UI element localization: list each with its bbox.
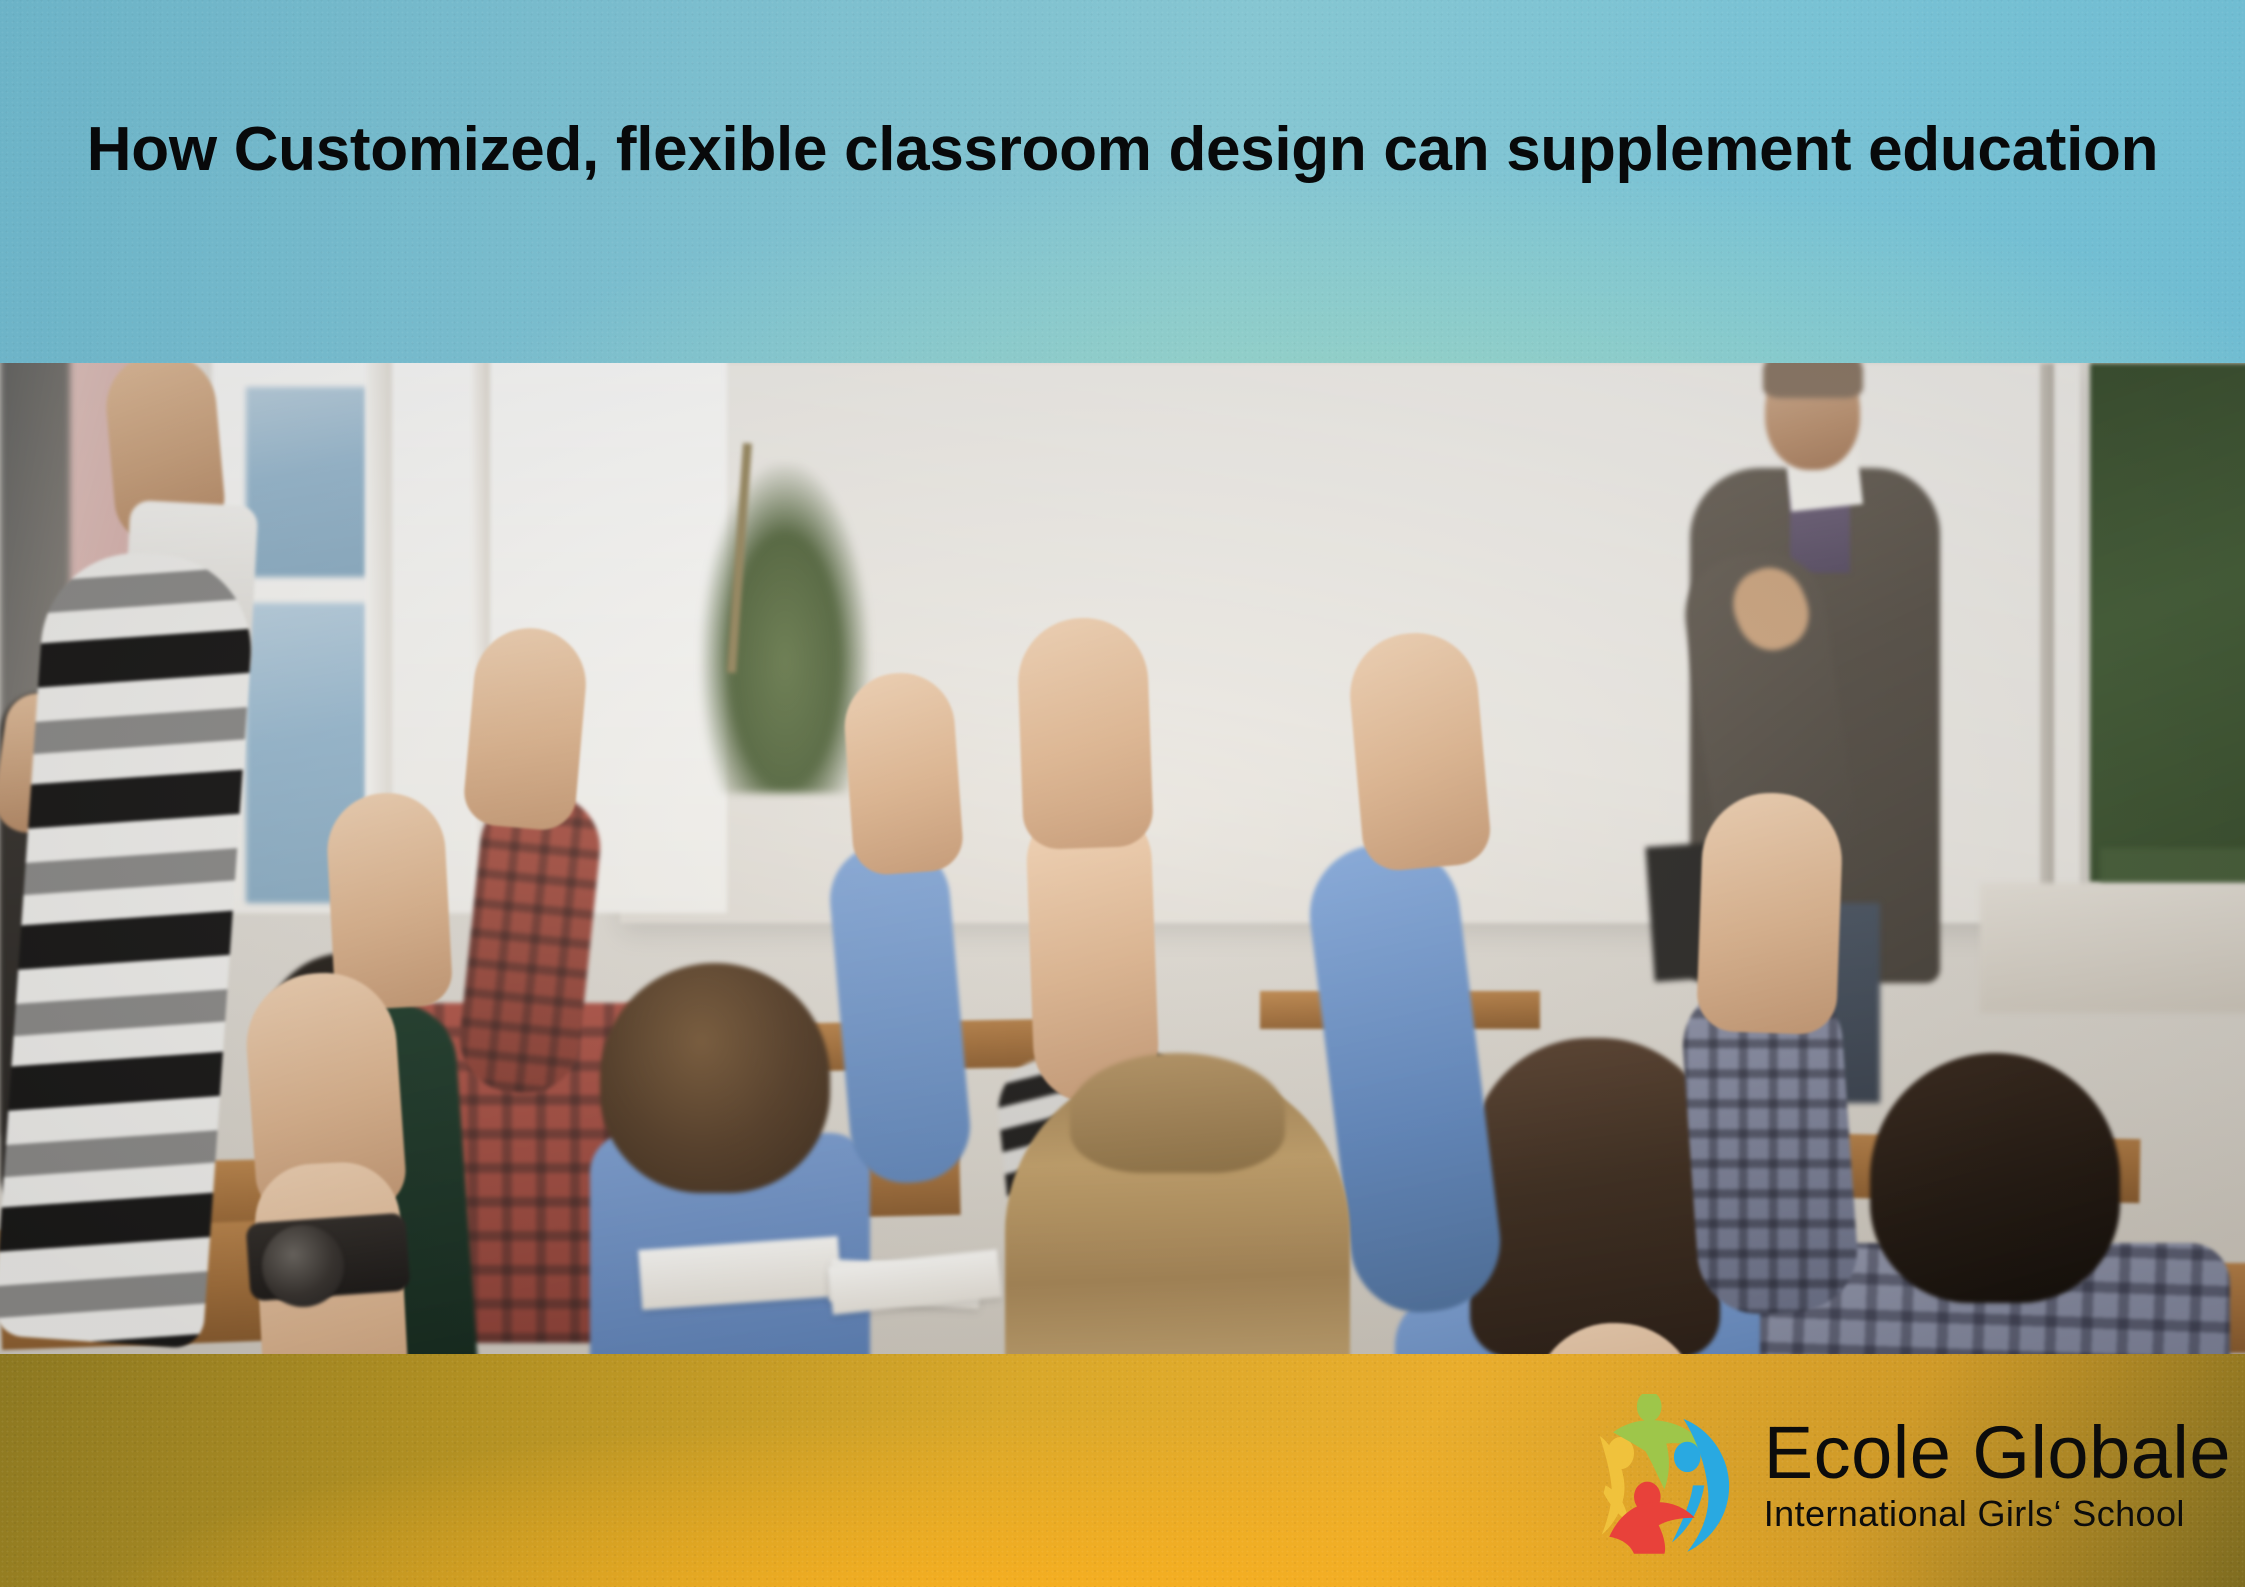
- logo-wordmark: Ecole Globale International Girls‘ Schoo…: [1764, 1416, 2231, 1532]
- back-counter: [1980, 883, 2245, 1013]
- window-pane-upper: [246, 387, 366, 577]
- potted-plant: [700, 463, 870, 793]
- page-title: How Customized, flexible classroom desig…: [63, 112, 2183, 188]
- student-bob-hair-head: [1470, 1038, 1720, 1354]
- logo-tagline: International Girls‘ School: [1764, 1496, 2185, 1532]
- teacher-hair: [1763, 363, 1863, 398]
- banner-header: How Customized, flexible classroom desig…: [0, 0, 2245, 363]
- four-figures-circle-logo-icon: [1596, 1394, 1748, 1554]
- raised-hand-plaid-right: [1696, 791, 1844, 1036]
- classroom-photo: [0, 363, 2245, 1354]
- raised-hand-plaid-left: [461, 623, 590, 832]
- raised-hand-center: [1016, 616, 1154, 850]
- student-head-right: [1870, 1053, 2120, 1303]
- green-chalkboard: [2090, 363, 2245, 883]
- logo-school-name: Ecole Globale: [1764, 1416, 2231, 1490]
- wristwatch-face: [262, 1225, 344, 1307]
- article-banner: How Customized, flexible classroom desig…: [0, 0, 2245, 1587]
- banner-footer: Ecole Globale International Girls‘ Schoo…: [0, 1354, 2245, 1587]
- raised-hand-blue-left: [841, 669, 965, 876]
- raised-hand-blue-sweater: [1345, 628, 1493, 873]
- student-curly-hair-head: [600, 963, 830, 1193]
- school-logo[interactable]: Ecole Globale International Girls‘ Schoo…: [1596, 1394, 2231, 1554]
- blonde-student-bun: [1070, 1053, 1285, 1173]
- chalkboard-ledge: [2100, 848, 2245, 884]
- whiteboard-edge: [2040, 363, 2054, 938]
